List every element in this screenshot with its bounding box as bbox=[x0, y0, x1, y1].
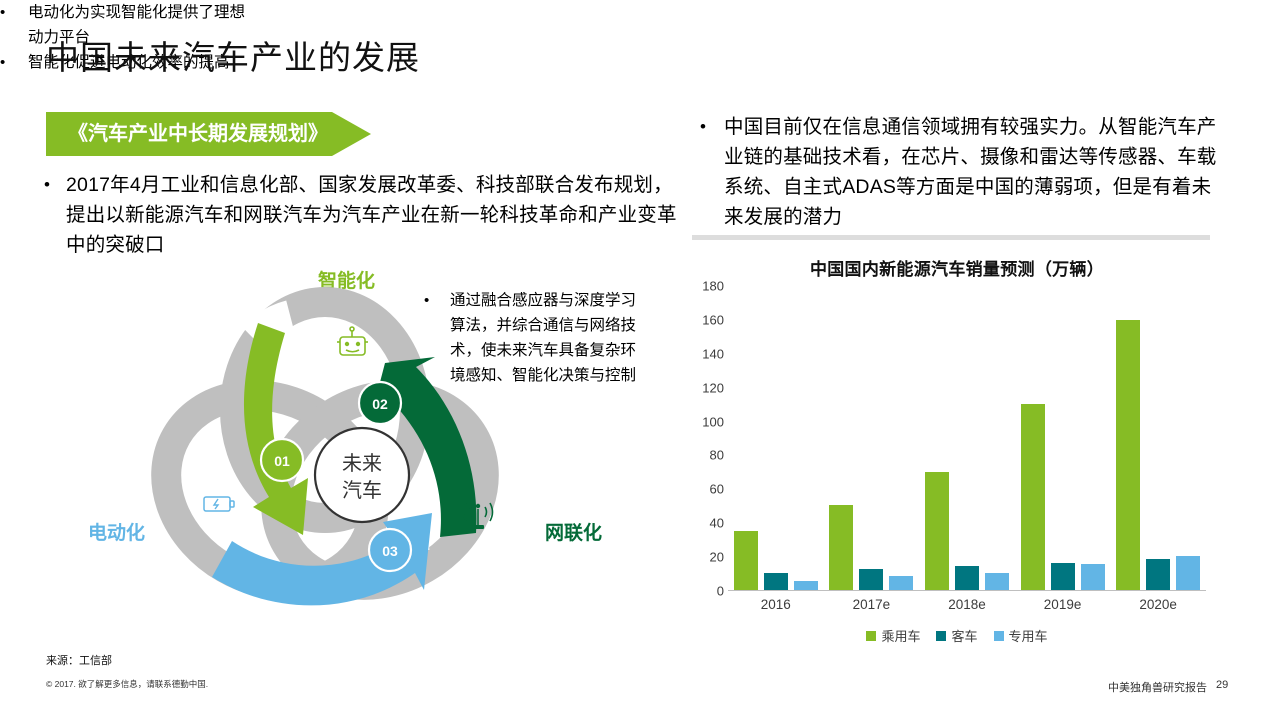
chart-bar[interactable] bbox=[925, 472, 949, 590]
banner-label: 《汽车产业中长期发展规划》 bbox=[68, 112, 328, 156]
bullet-marker-icon: • bbox=[0, 50, 28, 75]
section-banner: 《汽车产业中长期发展规划》 bbox=[46, 112, 371, 156]
legend-swatch bbox=[994, 631, 1004, 641]
chart-bar-group bbox=[919, 287, 1015, 590]
chart-x-tick: 2017e bbox=[824, 597, 920, 612]
chart-bar[interactable] bbox=[764, 573, 788, 590]
chart-bar-group bbox=[1015, 287, 1111, 590]
chart-title: 中国国内新能源汽车销量预测（万辆） bbox=[692, 255, 1222, 280]
main-bullet-text: 2017年4月工业和信息化部、国家发展改革委、科技部联合发布规划，提出以新能源汽… bbox=[66, 170, 684, 260]
chart-bar[interactable] bbox=[794, 581, 818, 589]
chart-y-tick: 40 bbox=[692, 516, 724, 531]
legend-label: 客车 bbox=[951, 626, 977, 645]
chart-bar-group bbox=[728, 287, 824, 590]
chart-y-axis: 020406080100120140160180 bbox=[692, 286, 724, 591]
chart-bar-group bbox=[1110, 287, 1206, 590]
chart-x-axis-labels: 20162017e2018e2019e2020e bbox=[728, 597, 1206, 612]
chart-y-tick: 120 bbox=[692, 380, 724, 395]
legend-label: 乘用车 bbox=[881, 626, 920, 645]
chart-x-tick: 2018e bbox=[919, 597, 1015, 612]
chart-x-axis-line bbox=[728, 590, 1206, 592]
chart-y-tick: 80 bbox=[692, 448, 724, 463]
slide: 中国未来汽车产业的发展 《汽车产业中长期发展规划》 • 2017年4月工业和信息… bbox=[0, 0, 1280, 720]
chart-x-tick: 2020e bbox=[1110, 597, 1206, 612]
chart-bar[interactable] bbox=[1146, 559, 1170, 589]
bullet-marker-icon: • bbox=[0, 0, 28, 25]
footer-page-number: 29 bbox=[1216, 679, 1228, 691]
chart-bar[interactable] bbox=[1176, 556, 1200, 590]
diagram-center: 未来 汽车 bbox=[315, 428, 409, 522]
right-bullet: • 中国目前仅在信息通信领域拥有较强实力。从智能汽车产业链的基础技术看，在芯片、… bbox=[700, 112, 1220, 232]
footer-report-name: 中美独角兽研究报告 bbox=[1108, 679, 1207, 695]
legend-item[interactable]: 客车 bbox=[936, 626, 977, 645]
legend-item[interactable]: 专用车 bbox=[994, 626, 1048, 645]
copyright-note: © 2017. 欲了解更多信息，请联系德勤中国. bbox=[46, 678, 208, 690]
legend-item[interactable]: 乘用车 bbox=[866, 626, 920, 645]
chart-y-tick: 160 bbox=[692, 312, 724, 327]
chart-legend: 乘用车客车专用车 bbox=[692, 626, 1222, 645]
chart-bar-groups bbox=[728, 287, 1206, 590]
chart-bar-group bbox=[824, 287, 920, 590]
chart-y-tick: 60 bbox=[692, 482, 724, 497]
chart-bar[interactable] bbox=[734, 531, 758, 590]
svg-text:01: 01 bbox=[274, 453, 290, 469]
chart-x-tick: 2019e bbox=[1015, 597, 1111, 612]
diagram-label-electric: 电动化 bbox=[88, 518, 145, 545]
svg-text:02: 02 bbox=[372, 396, 388, 412]
center-line-1: 未来 bbox=[342, 452, 382, 475]
chart-y-tick: 100 bbox=[692, 414, 724, 429]
chart-y-tick: 20 bbox=[692, 550, 724, 565]
chart-bar[interactable] bbox=[829, 505, 853, 589]
battery-charging-icon bbox=[204, 497, 234, 511]
chart-bar[interactable] bbox=[889, 576, 913, 589]
chart-bar[interactable] bbox=[859, 569, 883, 589]
center-line-2: 汽车 bbox=[342, 479, 382, 502]
robot-icon bbox=[337, 327, 368, 355]
future-car-trefoil-diagram: 01 02 03 未来 汽车 bbox=[140, 285, 510, 630]
page-title: 中国未来汽车产业的发展 bbox=[46, 38, 420, 78]
chart-y-tick: 0 bbox=[692, 584, 724, 599]
main-bullet: • 2017年4月工业和信息化部、国家发展改革委、科技部联合发布规划，提出以新能… bbox=[44, 170, 684, 260]
svg-text:03: 03 bbox=[382, 543, 398, 559]
section-divider bbox=[692, 235, 1210, 240]
chart-x-tick: 2016 bbox=[728, 597, 824, 612]
legend-label: 专用车 bbox=[1009, 626, 1048, 645]
chart-plot-area: 020406080100120140160180 bbox=[728, 286, 1206, 591]
chart-bar[interactable] bbox=[985, 573, 1009, 590]
chart-y-tick: 140 bbox=[692, 346, 724, 361]
chart-bar[interactable] bbox=[955, 566, 979, 590]
source-note: 来源：工信部 bbox=[46, 652, 112, 668]
bullet-marker-icon: • bbox=[44, 170, 66, 200]
bullet-marker-icon: • bbox=[700, 112, 724, 142]
right-bullet-text: 中国目前仅在信息通信领域拥有较强实力。从智能汽车产业链的基础技术看，在芯片、摄像… bbox=[724, 112, 1220, 232]
diagram-label-connected: 网联化 bbox=[545, 518, 602, 545]
chart-y-tick: 180 bbox=[692, 279, 724, 294]
chart-bar[interactable] bbox=[1051, 563, 1075, 590]
chart-bar[interactable] bbox=[1081, 564, 1105, 589]
legend-swatch bbox=[936, 631, 946, 641]
chart-bar[interactable] bbox=[1116, 320, 1140, 589]
sales-forecast-chart: 中国国内新能源汽车销量预测（万辆） 0204060801001201401601… bbox=[692, 255, 1222, 660]
chart-bar[interactable] bbox=[1021, 404, 1045, 589]
legend-swatch bbox=[866, 631, 876, 641]
